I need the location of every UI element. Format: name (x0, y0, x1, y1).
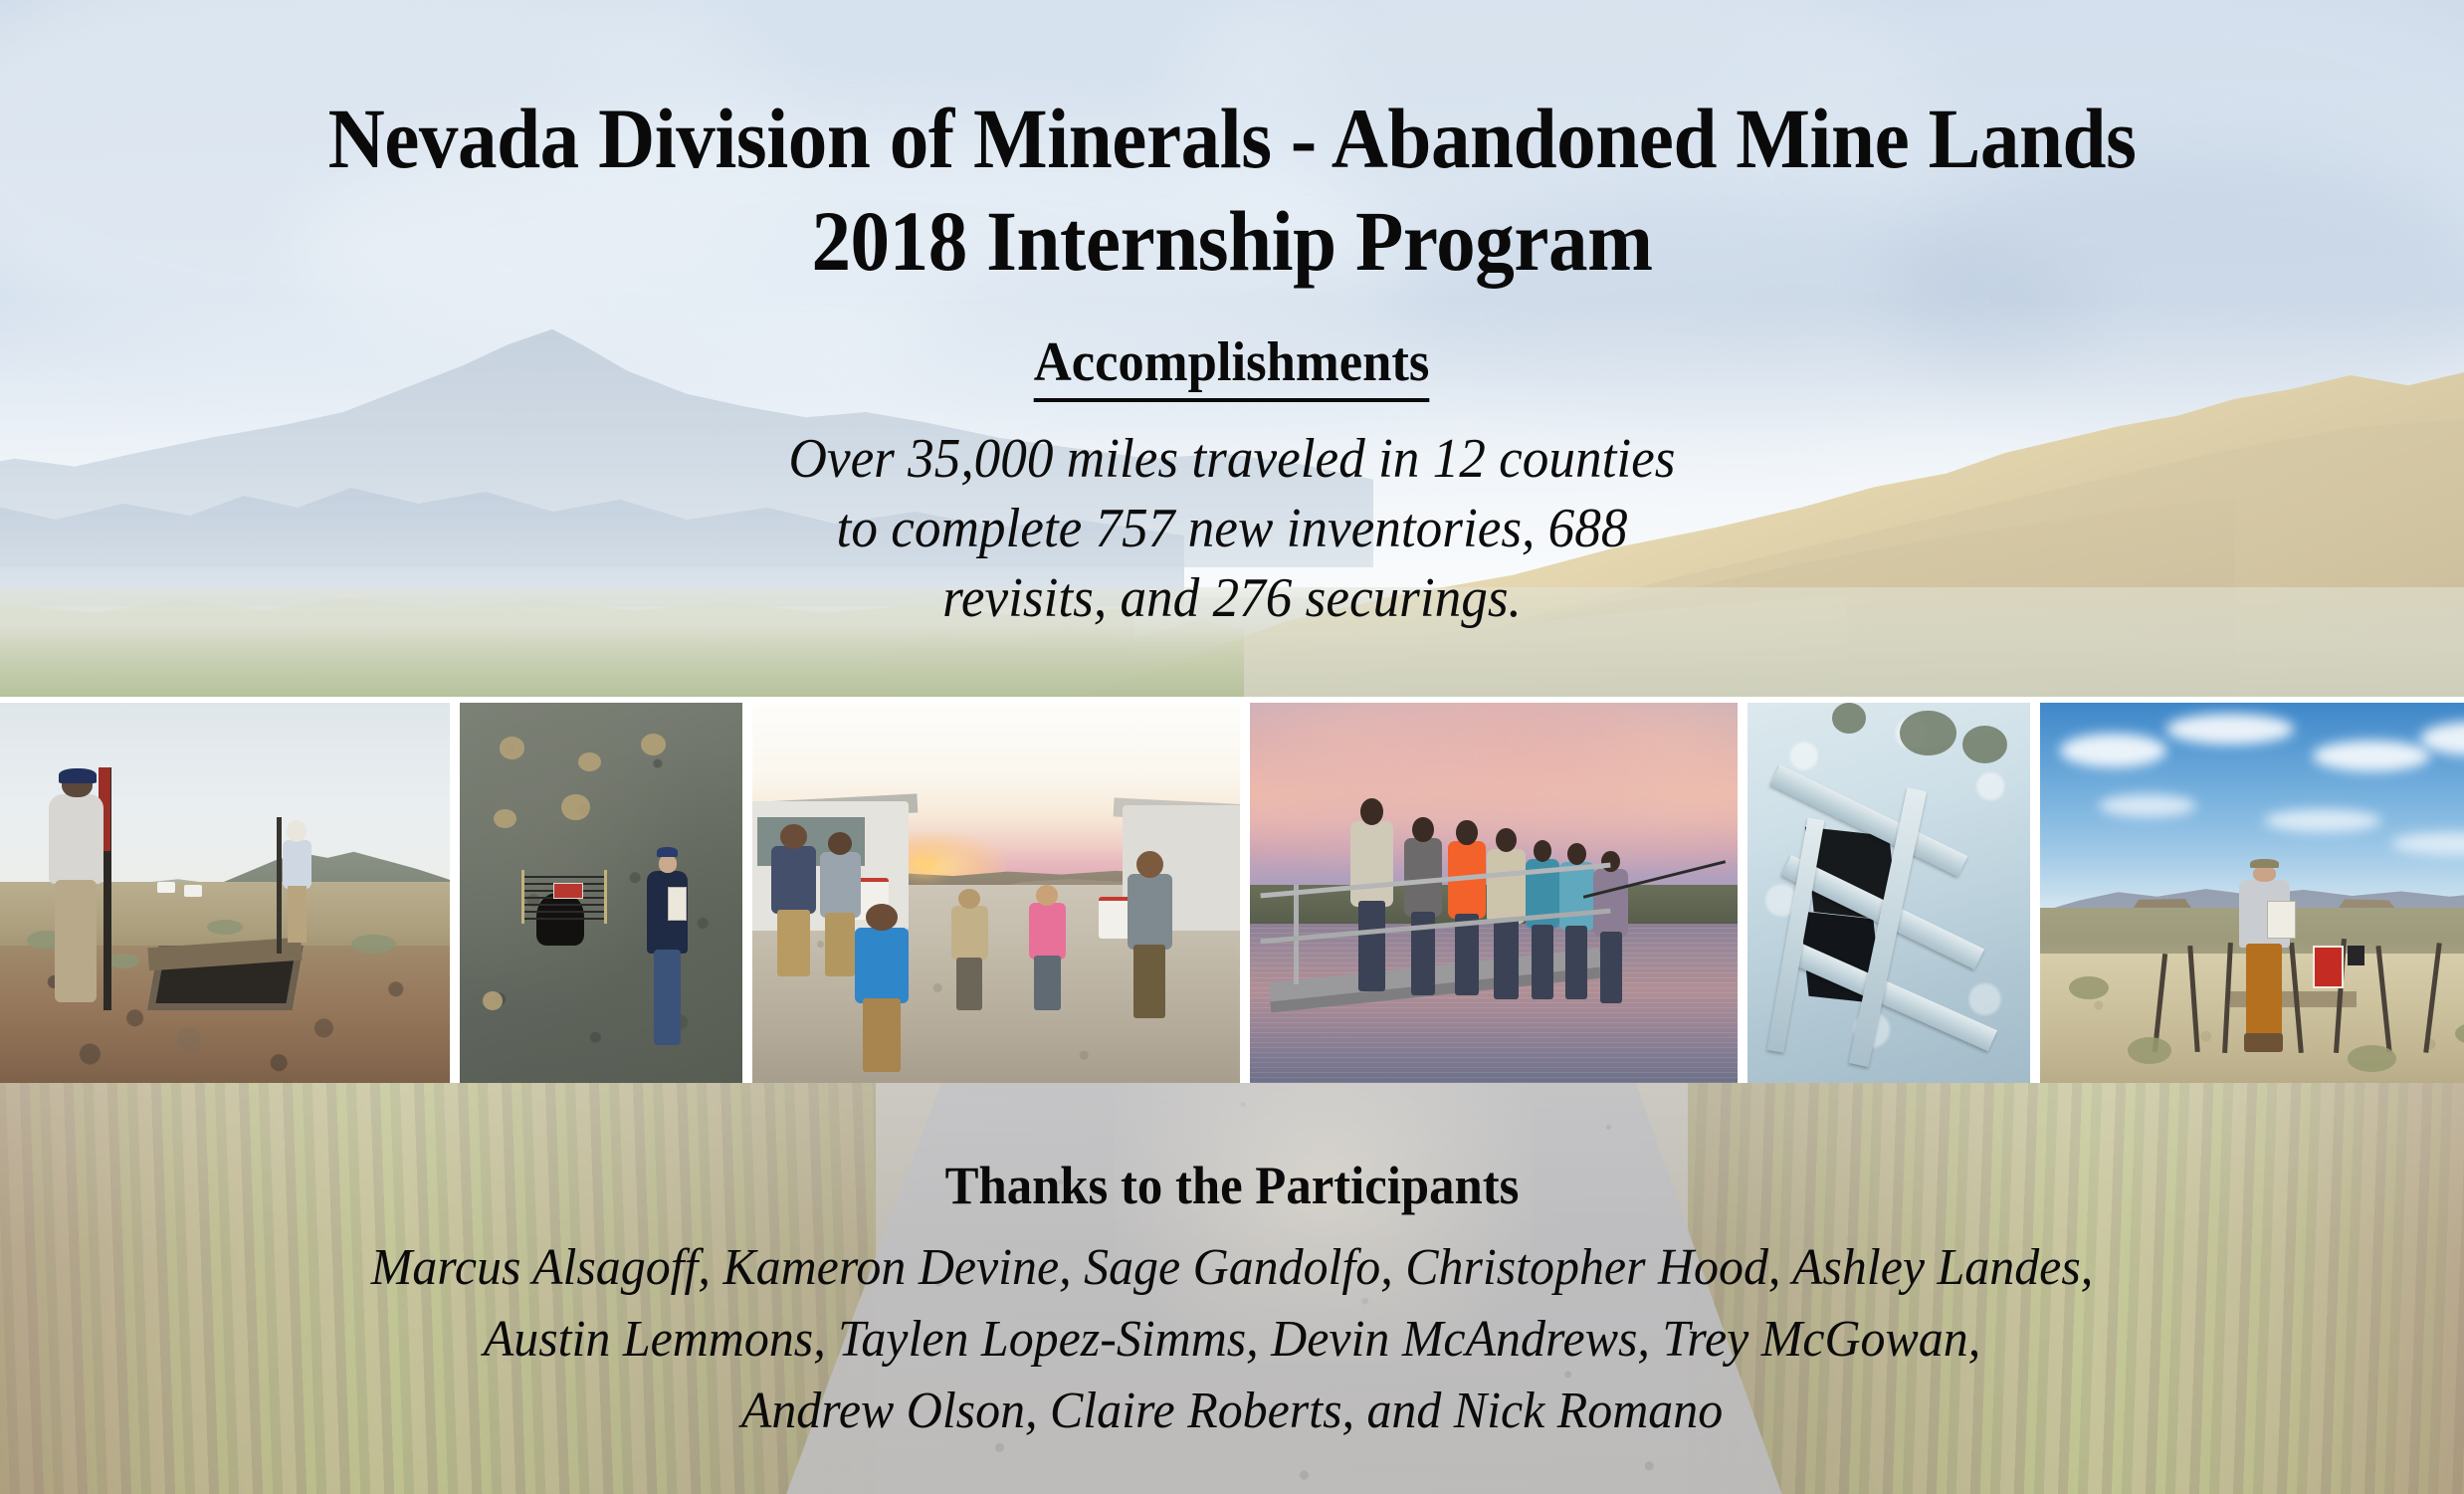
photo-person-cap (657, 847, 678, 857)
photo-person-torso (951, 906, 988, 960)
poster-title: Nevada Division of Minerals - Abandoned … (0, 88, 2464, 293)
photo-bush (207, 920, 243, 935)
photo-warning-sign (553, 883, 583, 899)
photo-gap (1240, 703, 1250, 1083)
title-line-1: Nevada Division of Minerals - Abandoned … (99, 88, 2365, 190)
photo-person (1347, 798, 1396, 992)
photo-danger-site (2040, 703, 2464, 1083)
photo-person-legs (1133, 945, 1165, 1018)
photo-person (1445, 820, 1489, 995)
photo-person-head (958, 889, 980, 909)
photo-black-sign (2348, 946, 2365, 964)
photo-person-head (1567, 843, 1586, 865)
photo-person-head (1496, 828, 1517, 852)
photo-person (1591, 851, 1630, 1003)
photo-person-legs (863, 998, 901, 1072)
photo-person-head (659, 855, 677, 873)
thanks-section: Thanks to the Participants Marcus Alsago… (0, 1155, 2464, 1447)
accomplishments-body: Over 35,000 miles traveled in 12 countie… (62, 424, 2402, 633)
participant-names: Marcus Alsagoff, Kameron Devine, Sage Ga… (50, 1232, 2415, 1447)
photo-gap (742, 703, 752, 1083)
photo-person-cap (2250, 859, 2278, 869)
participant-name-line-2: Austin Lemmons, Taylen Lopez-Simms, Devi… (50, 1304, 2415, 1376)
photo-person-head (866, 904, 898, 931)
photo-person-legs (1600, 932, 1622, 1003)
thanks-heading: Thanks to the Participants (74, 1155, 2389, 1216)
photo-person-legs (777, 910, 809, 976)
photo-bush (1832, 703, 1866, 734)
photo-person-legs (1565, 926, 1587, 999)
photo-sagebrush (494, 809, 516, 828)
photo-person (2235, 859, 2294, 1053)
photo-person-seated (767, 824, 821, 976)
photo-person-head (1136, 851, 1163, 878)
photo-danger-sign (2313, 946, 2344, 987)
photo-person-torso (1029, 903, 1066, 960)
accomplishments-line-1: Over 35,000 miles traveled in 12 countie… (62, 424, 2402, 494)
photo-person-legs (55, 880, 97, 1002)
photo-fence-post (521, 870, 524, 923)
photo-gap (2030, 703, 2040, 1083)
photo-person-head (1036, 885, 1058, 905)
photo-person-head (1534, 840, 1552, 862)
photo-person-head (780, 824, 807, 848)
accomplishments-section: Accomplishments Over 35,000 miles travel… (0, 328, 2464, 633)
photo-person-head (1360, 798, 1384, 825)
cloud-icon (2060, 734, 2167, 767)
photo-bush (351, 935, 396, 954)
photo-bush (1962, 726, 2007, 763)
photo-person-standing (1123, 851, 1176, 1018)
accomplishments-line-2: to complete 757 new inventories, 688 (62, 494, 2402, 563)
photo-person-head (1412, 817, 1433, 842)
photo-person-primary (41, 771, 112, 1007)
photo-sunset-camp (752, 703, 1240, 1083)
photo-aerial-adit (460, 703, 742, 1083)
photo-person (1401, 817, 1445, 996)
photo-person-torso (771, 846, 816, 915)
photo-fence-post (604, 870, 607, 923)
photo-bush (2128, 1037, 2171, 1064)
photo-sun (914, 859, 935, 868)
photo-person-legs (1358, 901, 1385, 992)
photo-field-board (2267, 901, 2296, 938)
photo-strip (0, 703, 2464, 1083)
photo-person-secondary (279, 820, 314, 942)
accomplishments-line-3: revisits, and 276 securings. (62, 563, 2402, 633)
photo-person-seated (947, 889, 991, 1010)
photo-gap (450, 703, 460, 1083)
photo-person-torso (1487, 849, 1526, 925)
photo-person (644, 847, 692, 1045)
photo-person-torso (49, 794, 103, 884)
photo-person-torso (855, 928, 908, 1003)
photo-vehicle (184, 885, 202, 896)
participant-name-line-3: Andrew Olson, Claire Roberts, and Nick R… (50, 1376, 2415, 1447)
photo-sagebrush (561, 794, 589, 821)
title-line-2: 2018 Internship Program (99, 190, 2365, 293)
cloud-icon (2264, 809, 2381, 832)
photo-person-legs (2246, 944, 2282, 1037)
photo-frosty-shaft (1747, 703, 2030, 1083)
photo-person (1484, 828, 1528, 999)
photo-person-legs (1494, 919, 1519, 999)
photo-bush (2348, 1045, 2396, 1072)
cloud-icon (2166, 714, 2293, 745)
photo-vehicle (157, 882, 175, 893)
photo-person-cap (59, 768, 97, 782)
cloud-icon (2099, 794, 2196, 817)
photo-person-seated (1025, 885, 1069, 1010)
photo-sagebrush (578, 752, 601, 771)
photo-shaft-marker (0, 703, 450, 1083)
photo-field-sign (668, 887, 687, 921)
cloud-icon (2313, 741, 2430, 771)
photo-person-head (2253, 866, 2277, 882)
photo-person-legs (654, 950, 681, 1044)
photo-person-torso (1350, 821, 1393, 907)
accomplishments-heading: Accomplishments (1034, 328, 1430, 402)
photo-person-torso (1128, 874, 1172, 950)
photo-person-head (1456, 820, 1477, 845)
photo-person-legs (1532, 925, 1553, 999)
photo-bush (2069, 976, 2108, 999)
photo-person-torso (283, 840, 311, 889)
photo-person-legs (956, 958, 982, 1011)
photo-person-legs (1034, 956, 1060, 1010)
photo-person-chair (850, 904, 914, 1071)
participant-name-line-1: Marcus Alsagoff, Kameron Devine, Sage Ga… (50, 1232, 2415, 1304)
photo-person-legs (288, 886, 307, 942)
photo-person-torso (1593, 869, 1627, 936)
photo-person-boots (2244, 1033, 2283, 1052)
photo-sagebrush (483, 991, 503, 1010)
poster-canvas: Nevada Division of Minerals - Abandoned … (0, 0, 2464, 1494)
valley-vegetation (0, 627, 1244, 697)
photo-gap (1738, 703, 1747, 1083)
photo-dock-group (1250, 703, 1738, 1083)
